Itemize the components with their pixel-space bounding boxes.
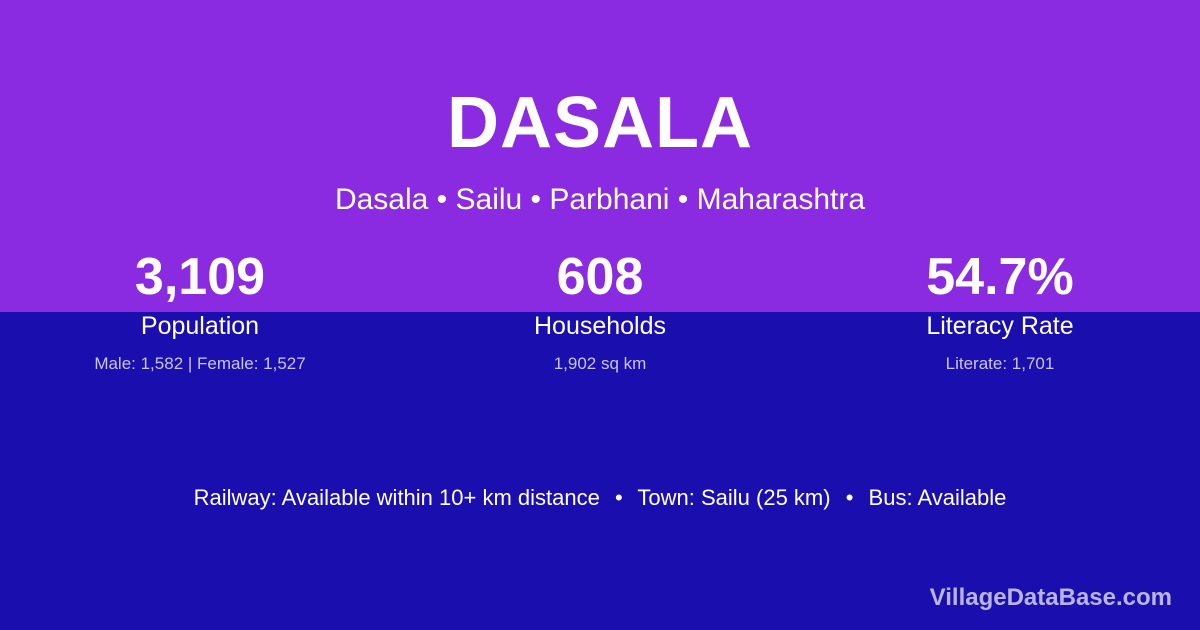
facilities-line: Railway: Available within 10+ km distanc… xyxy=(0,483,1200,513)
village-info-card: DASALA Dasala • Sailu • Parbhani • Mahar… xyxy=(0,0,1200,630)
stat-label: Population xyxy=(0,310,400,342)
stat-value: 608 xyxy=(400,246,800,308)
facility-town: Town: Sailu (25 km) xyxy=(637,485,830,510)
stat-label: Literacy Rate xyxy=(800,310,1200,342)
stat-value: 3,109 xyxy=(0,246,400,308)
stat-sublabel: 1,902 sq km xyxy=(400,352,800,376)
facility-bus: Bus: Available xyxy=(869,485,1007,510)
stat-population: 3,109 Population Male: 1,582 | Female: 1… xyxy=(0,246,400,376)
stat-value: 54.7% xyxy=(800,246,1200,308)
facility-separator: • xyxy=(837,483,863,513)
stat-sublabel: Male: 1,582 | Female: 1,527 xyxy=(0,352,400,376)
breadcrumb: Dasala • Sailu • Parbhani • Maharashtra xyxy=(0,182,1200,218)
stat-households: 608 Households 1,902 sq km xyxy=(400,246,800,376)
page-title: DASALA xyxy=(0,80,1200,166)
facility-railway: Railway: Available within 10+ km distanc… xyxy=(194,485,600,510)
site-brand: VillageDataBase.com xyxy=(930,583,1172,613)
stat-label: Households xyxy=(400,310,800,342)
stat-sublabel: Literate: 1,701 xyxy=(800,352,1200,376)
stats-row: 3,109 Population Male: 1,582 | Female: 1… xyxy=(0,246,1200,376)
facility-separator: • xyxy=(606,483,632,513)
stat-literacy-rate: 54.7% Literacy Rate Literate: 1,701 xyxy=(800,246,1200,376)
